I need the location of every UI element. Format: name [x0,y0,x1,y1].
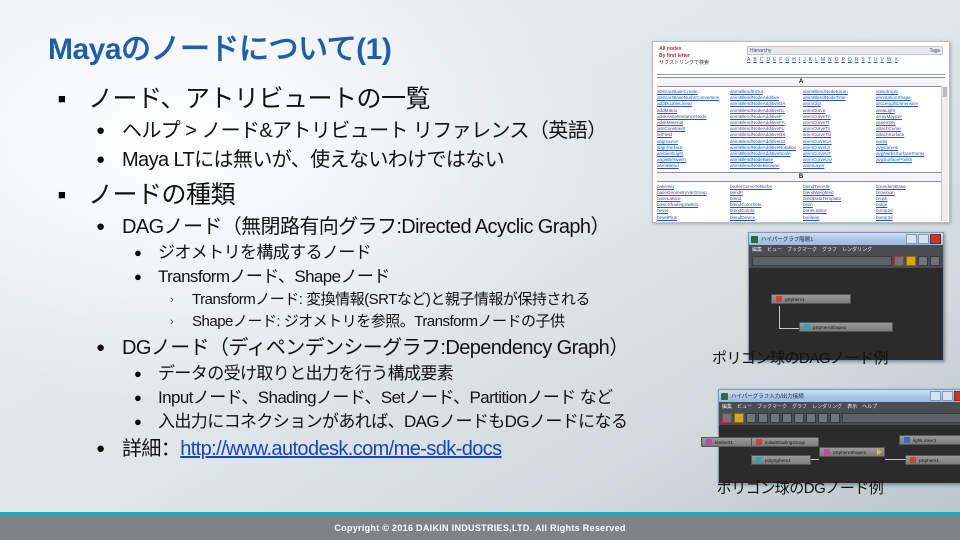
close-icon[interactable] [954,391,960,401]
docs-alpha-link-V[interactable]: V [880,57,883,63]
dg-node-initialshadinggroup[interactable]: initialShadingGroup [751,437,819,447]
dg-tool-icon-8[interactable] [806,413,816,423]
docs-node-column: animBlendNodeEnumanimBlendNodeTimeanimCl… [803,89,872,170]
docs-alpha-link-L[interactable]: L [815,57,818,63]
dg-node-lambert1[interactable]: lambert1 [701,437,755,447]
outline-item-text: Maya LTには無いが、使えないわけではない [122,146,504,174]
dg-node-psphere1[interactable]: pSphere1 [905,455,960,465]
maximize-icon[interactable] [942,391,953,401]
docs-hierarchy-select[interactable]: Hierarchy Tags [747,46,943,55]
docs-alpha-link-S[interactable]: S [861,57,864,63]
minimize-icon[interactable] [906,234,917,244]
outline-item-l2: ●DGノード（ディペンデンシーグラフ:Dependency Graph） [52,334,672,362]
dag-connection-wire-vertical [779,306,780,328]
dag-window-title: ハイパーグラフ階層1 [761,235,906,243]
footer-copyright: Copyright © 2016 DAIKIN INDUSTRIES,LTD. … [0,515,960,540]
docs-node-column: anisotropicannotationShapearcLengthDimen… [876,89,945,170]
dag-window-controls[interactable] [906,234,941,244]
transform-node-icon [776,296,782,302]
dag-tool-icon-3[interactable] [918,256,928,266]
dag-node-label: pSphere1 [785,297,805,302]
bullet-disc-icon: ● [130,241,158,265]
dg-tool-icon-10[interactable] [830,413,840,423]
maximize-icon[interactable] [918,234,929,244]
dg-node-lightlinker1[interactable]: lightLinker1 [899,435,960,445]
outline-item-text: ノード、アトリビュートの一覧 [88,82,430,116]
outline-item-l2: ●ヘルプ > ノード&アトリビュート リファレンス（英語） [52,117,672,145]
docs-by-first-letter-label[interactable]: By first letter [659,53,747,60]
menu-item-4[interactable]: レンダリング [842,246,872,253]
menu-item-0[interactable]: 編集 [722,403,732,410]
dg-node-psphereshape1[interactable]: pSphereShape1 [819,447,885,457]
docs-node-column: bezierCurveToNurbsbendItblendblendColorS… [730,184,799,223]
bullet-chevron-icon: › [170,289,192,311]
dg-tool-icon-7[interactable] [794,413,804,423]
dg-window-title: ハイパーグラフ入力/出力接続 [731,392,930,400]
docs-alpha-link-W[interactable]: W [887,57,892,63]
dg-graph-canvas[interactable]: lambert1 initialShadingGroup polySphere1… [718,425,960,484]
docs-alphabet-nav[interactable]: ABCDEFGHIJKLMNOPQRSTUVWX [747,57,943,63]
dg-wire-5 [885,459,905,460]
outline-body: ■ノード、アトリビュートの一覧●ヘルプ > ノード&アトリビュート リファレンス… [52,78,672,463]
bullet-disc-icon: ● [92,435,122,463]
dg-selection-arrow-icon [877,449,882,455]
dg-tool-icon-4[interactable] [758,413,768,423]
outline-item-l3: ●Inputノード、Shadingノード、Setノード、Partitionノード… [52,386,672,410]
dg-tool-icon-1[interactable] [722,413,732,423]
docs-node-column: blendTwoAttrblendWeightedblindDataTempla… [803,184,872,223]
node-reference-screenshot: All nodes By first letter サブストリングで検索 Hie… [652,41,950,223]
docs-scrollbar-thumb[interactable] [943,87,947,97]
partition-node-icon [904,437,910,443]
docs-node-link[interactable]: boundary [803,221,872,223]
docs-tags-label: Tags [929,48,940,54]
docs-alpha-link-D[interactable]: D [766,57,770,63]
dg-window-controls[interactable] [930,391,960,401]
dag-node-psphereshape1[interactable]: pSphereShape1 [799,322,893,332]
outline-item-text: データの受け取りと出力を行う構成要素 [158,362,453,386]
bullet-disc-icon: ● [92,117,122,145]
docs-node-link[interactable]: bump3d [876,215,945,221]
bullet-disc-icon: ● [92,146,122,174]
bullet-square-icon: ■ [52,82,88,116]
menu-item-2[interactable]: ブックマーク [757,403,787,410]
outline-item-text: DGノード（ディペンデンシーグラフ:Dependency Graph） [122,334,629,362]
close-icon[interactable] [930,234,941,244]
docs-alpha-link-U[interactable]: U [874,57,878,63]
docs-alpha-link-N[interactable]: N [828,57,832,63]
outline-item-prefix: 詳細： [122,438,180,460]
docs-node-column: bakeSetbaseGeometryVarGroupbaseLatticeba… [657,184,726,223]
dag-node-label: pSphereShape1 [813,325,846,330]
dg-node-label: initialShadingGroup [765,440,805,445]
dag-node-psphere1[interactable]: pSphere1 [771,294,851,304]
dg-node-label: pSphereShape1 [833,450,866,455]
outline-item-l3: ●Transformノード、Shapeノード [52,265,672,289]
menu-item-5[interactable]: 表示 [847,403,857,410]
docs-node-link[interactable]: blendShape [730,221,799,223]
docs-alpha-link-F[interactable]: F [779,57,782,63]
docs-node-column: abstractBaseCreateabstractBaseNurbsConve… [657,89,726,170]
docs-node-link[interactable]: bezierCurve [657,221,726,223]
minimize-icon[interactable] [930,391,941,401]
outline-item-text: Transformノード: 変換情報(SRTなど)と親子情報が保持される [192,289,590,311]
docs-alpha-link-H[interactable]: H [792,57,796,63]
docs-hierarchy-label: Hierarchy [750,48,771,54]
dg-window-titlebar[interactable]: ハイパーグラフ入力/出力接続 [718,389,960,402]
outline-item-text: Transformノード、Shapeノード [158,265,390,289]
menu-item-0[interactable]: 編集 [752,246,762,253]
bullet-disc-icon: ● [130,410,158,434]
docs-node-column: boundaryBasebrownianbrushbulgebump2dbump… [876,184,945,223]
docs-substring-label: サブストリングで検索 [659,60,747,67]
docs-divider [657,74,945,75]
docs-sections: AabstractBaseCreateabstractBaseNurbsConv… [653,77,949,223]
docs-section-letter: A [657,77,945,87]
docs-alpha-link-K[interactable]: K [809,57,812,63]
dg-node-label: lightLinker1 [913,438,937,443]
dg-hypergraph-window: ハイパーグラフ入力/出力接続 編集ビューブックマークグラフレンダリング表示ヘルプ [718,389,960,484]
docs-alpha-link-E[interactable]: E [773,57,776,63]
dag-tool-icon-1[interactable] [894,256,904,266]
bullet-disc-icon: ● [130,265,158,289]
outline-item-l3: ●ジオメトリを構成するノード [52,241,672,265]
dag-menubar[interactable]: 編集ビューブックマークグラフレンダリング [748,245,944,254]
menu-item-3[interactable]: グラフ [822,246,837,253]
outline-item-text: ノードの種類 [88,178,235,212]
docs-section-letter: B [657,172,945,182]
shape-node-icon [804,324,810,330]
docs-alpha-link-X[interactable]: X [895,57,898,63]
docs-header-left: All nodes By first letter サブストリングで検索 [659,46,747,67]
docs-alpha-link-P[interactable]: P [842,57,845,63]
outline-item-text: ヘルプ > ノード&アトリビュート リファレンス（英語） [122,117,607,145]
input-node-icon [756,457,762,463]
menu-item-1[interactable]: ビュー [767,246,782,253]
docs-scrollbar[interactable] [941,86,948,221]
docs-alpha-link-R[interactable]: R [855,57,859,63]
outline-item-l4: ›Transformノード: 変換情報(SRTなど)と親子情報が保持される [52,289,672,311]
dg-toolbar[interactable] [718,411,960,425]
menu-item-4[interactable]: レンダリング [812,403,842,410]
dag-search-input[interactable] [752,256,892,266]
docs-node-columns: abstractBaseCreateabstractBaseNurbsConve… [653,88,949,170]
dg-menubar[interactable]: 編集ビューブックマークグラフレンダリング表示ヘルプ [718,402,960,411]
autodesk-docs-link[interactable]: http://www.autodesk.com/me-sdk-docs [180,438,501,460]
dg-node-label: polySphere1 [765,458,791,463]
outline-item-l1: ■ノードの種類 [52,178,672,212]
dag-caption: ポリゴン球のDAGノード例 [652,347,948,368]
outline-item-text: DAGノード（無閉路有向グラフ:Directed Acyclic Graph） [122,213,610,241]
bullet-disc-icon: ● [130,386,158,410]
dg-search-input[interactable] [842,413,960,423]
dg-tool-icon-5[interactable] [770,413,780,423]
docs-node-link[interactable]: animLayer [803,163,872,169]
docs-alpha-link-C[interactable]: C [760,57,764,63]
outline-item-text: Shapeノード: ジオメトリを参照。Transformノードの子供 [192,311,565,333]
docs-node-link[interactable]: avgSurfacePoints [876,157,945,163]
outline-item-text: 詳細：http://www.autodesk.com/me-sdk-docs [122,435,502,463]
docs-alpha-link-B[interactable]: B [753,57,756,63]
dag-hypergraph-window: ハイパーグラフ階層1 編集ビューブックマークグラフレンダリング pSphere1 [748,232,944,361]
dg-tool-icon-6[interactable] [782,413,792,423]
outline-item-l2: ●DAGノード（無閉路有向グラフ:Directed Acyclic Graph） [52,213,672,241]
bullet-disc-icon: ● [92,334,122,362]
docs-node-columns: bakeSetbaseGeometryVarGroupbaseLatticeba… [653,183,949,223]
outline-item-text: ジオメトリを構成するノード [158,241,371,265]
outline-item-l3: ●データの受け取りと出力を行う構成要素 [52,362,672,386]
docs-alpha-link-Q[interactable]: Q [848,57,852,63]
dag-window-titlebar[interactable]: ハイパーグラフ階層1 [748,232,944,245]
docs-alpha-link-G[interactable]: G [785,57,789,63]
outline-item-l2: ●詳細：http://www.autodesk.com/me-sdk-docs [52,435,672,463]
docs-node-column: animBlendInOutanimBlendNodeAdditiveanimB… [730,89,799,170]
menu-item-2[interactable]: ブックマーク [787,246,817,253]
outline-item-l3: ●入出力にコネクションがあれば、DAGノードもDGノードになる [52,410,672,434]
maya-app-icon [721,393,728,400]
bullet-square-icon: ■ [52,178,88,212]
docs-alpha-link-I[interactable]: I [799,57,800,63]
bullet-chevron-icon: › [170,311,192,333]
set-node-icon [756,439,762,445]
slide: Mayaのノードについて(1) ■ノード、アトリビュートの一覧●ヘルプ > ノー… [0,0,960,540]
docs-node-link[interactable]: animBlendNodeBoolean [730,163,799,169]
outline-item-l1: ■ノード、アトリビュートの一覧 [52,82,672,116]
page-title: Mayaのノードについて(1) [48,24,391,68]
shading-node-icon [706,439,712,445]
docs-alpha-link-M[interactable]: M [821,57,825,63]
dag-toolbar[interactable] [748,254,944,268]
shape-node-icon [824,449,830,455]
dg-node-label: lambert1 [715,440,733,445]
maya-app-icon [751,236,758,243]
dag-tool-icon-2[interactable] [906,256,916,266]
docs-header-right: Hierarchy Tags ABCDEFGHIJKLMNOPQRSTUVWX [747,46,943,67]
bullet-disc-icon: ● [130,362,158,386]
dg-caption: ポリゴン球のDGノード例 [652,477,948,498]
docs-alpha-link-T[interactable]: T [868,57,871,63]
dg-node-polysphere1[interactable]: polySphere1 [751,455,811,465]
docs-header: All nodes By first letter サブストリングで検索 Hie… [653,42,949,70]
outline-item-l2: ●Maya LTには無いが、使えないわけではない [52,146,672,174]
dag-connection-wire-horizontal [779,328,801,329]
dag-tool-icon-4[interactable] [930,256,940,266]
menu-item-3[interactable]: グラフ [792,403,807,410]
menu-item-1[interactable]: ビュー [737,403,752,410]
transform-node-icon [910,457,916,463]
dg-node-label: pSphere1 [919,458,939,463]
dg-tool-icon-2[interactable] [734,413,744,423]
outline-item-text: Inputノード、Shadingノード、Setノード、Partitionノード … [158,386,613,410]
dg-tool-icon-3[interactable] [746,413,756,423]
docs-all-nodes-label[interactable]: All nodes [659,46,747,53]
bullet-disc-icon: ● [92,213,122,241]
docs-alpha-link-A[interactable]: A [747,57,750,63]
docs-alpha-link-J[interactable]: J [803,57,806,63]
docs-alpha-link-O[interactable]: O [835,57,839,63]
dg-tool-icon-9[interactable] [818,413,828,423]
docs-node-link[interactable]: animBlend [657,163,726,169]
menu-item-6[interactable]: ヘルプ [862,403,877,410]
outline-item-l4: ›Shapeノード: ジオメトリを参照。Transformノードの子供 [52,311,672,333]
outline-item-text: 入出力にコネクションがあれば、DAGノードもDGノードになる [158,410,627,434]
